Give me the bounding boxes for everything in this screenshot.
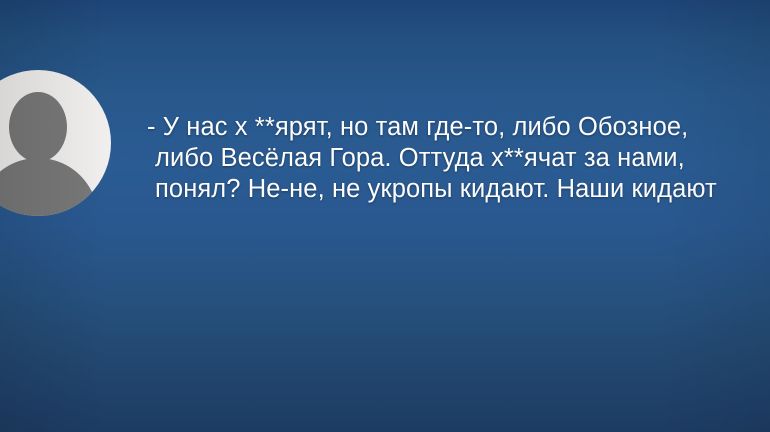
subtitle-line-2: либо Весёлая Гора. Оттуда х**ячат за нам… <box>147 143 770 174</box>
avatar-circle <box>0 70 111 216</box>
avatar <box>0 70 111 216</box>
video-frame: - У нас х **ярят, но там где-то, либо Об… <box>0 0 770 432</box>
subtitle-line-1: - У нас х **ярят, но там где-то, либо Об… <box>147 112 770 143</box>
subtitle-line-3: понял? Не-не, не укропы кидают. Наши кид… <box>147 174 770 205</box>
subtitle-block: - У нас х **ярят, но там где-то, либо Об… <box>147 112 770 205</box>
person-silhouette-icon <box>0 70 111 216</box>
